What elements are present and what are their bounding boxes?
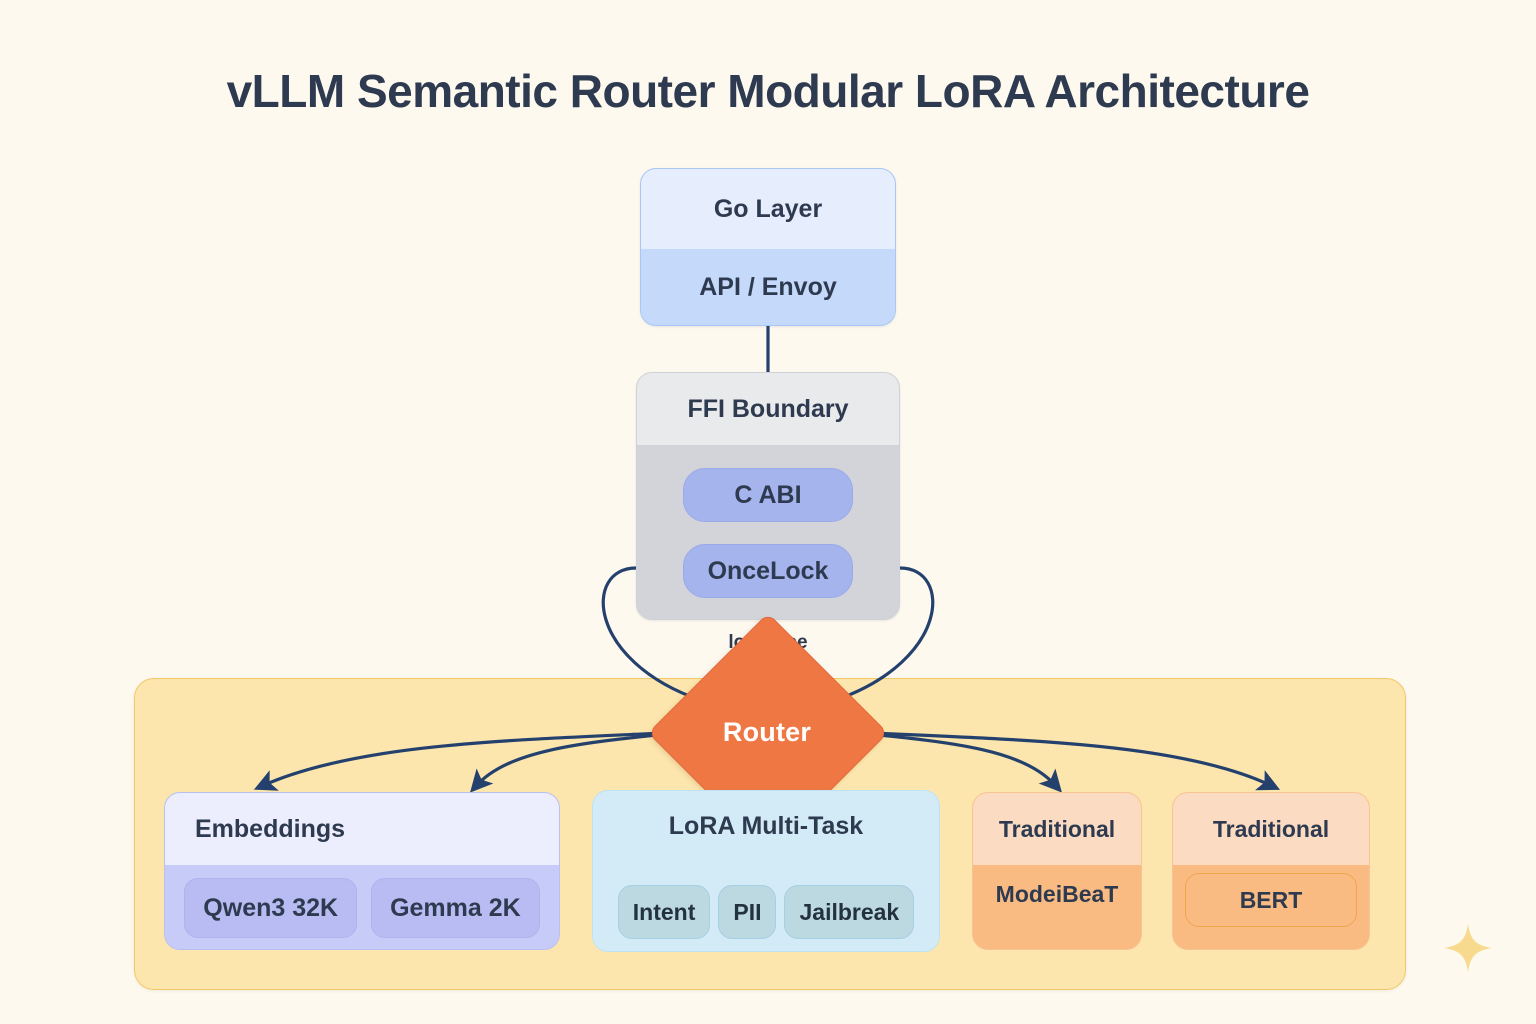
- ffi-body: C ABI OnceLock: [637, 445, 899, 620]
- node-go-layer[interactable]: Go Layer API / Envoy: [640, 168, 896, 326]
- go-layer-header: Go Layer: [641, 169, 895, 249]
- traditional-1-header: Traditional: [973, 793, 1141, 865]
- ffi-header: FFI Boundary: [637, 373, 899, 445]
- embeddings-body: Qwen3 32K Gemma 2K: [165, 865, 559, 950]
- pill-bert[interactable]: BERT: [1185, 873, 1357, 927]
- pill-pii[interactable]: PII: [718, 885, 776, 939]
- pill-gemma-2k[interactable]: Gemma 2K: [371, 878, 540, 938]
- node-lora-multi-task[interactable]: LoRA Multi-Task Intent PII Jailbreak: [592, 790, 940, 952]
- pill-jailbreak[interactable]: Jailbreak: [784, 885, 914, 939]
- node-traditional-1[interactable]: Traditional ModeiBeaT: [972, 792, 1142, 950]
- page-title: vLLM Semantic Router Modular LoRA Archit…: [0, 64, 1536, 118]
- sparkle-icon: [1442, 922, 1494, 974]
- embeddings-header: Embeddings: [165, 793, 559, 865]
- pill-qwen3-32k[interactable]: Qwen3 32K: [184, 878, 357, 938]
- pill-oncelock[interactable]: OnceLock: [683, 544, 853, 598]
- traditional-2-body: BERT: [1173, 865, 1369, 950]
- node-embeddings[interactable]: Embeddings Qwen3 32K Gemma 2K: [164, 792, 560, 950]
- node-traditional-2[interactable]: Traditional BERT: [1172, 792, 1370, 950]
- pill-intent[interactable]: Intent: [618, 885, 711, 939]
- diagram-canvas: vLLM Semantic Router Modular LoRA Archit…: [0, 0, 1536, 1024]
- pill-c-abi[interactable]: C ABI: [683, 468, 853, 522]
- lora-header: LoRA Multi-Task: [593, 791, 939, 861]
- traditional-1-body: ModeiBeaT: [973, 865, 1141, 950]
- go-layer-body: API / Envoy: [641, 249, 895, 325]
- traditional-2-header: Traditional: [1173, 793, 1369, 865]
- node-ffi-boundary[interactable]: FFI Boundary C ABI OnceLock: [636, 372, 900, 620]
- lora-body: Intent PII Jailbreak: [593, 861, 939, 952]
